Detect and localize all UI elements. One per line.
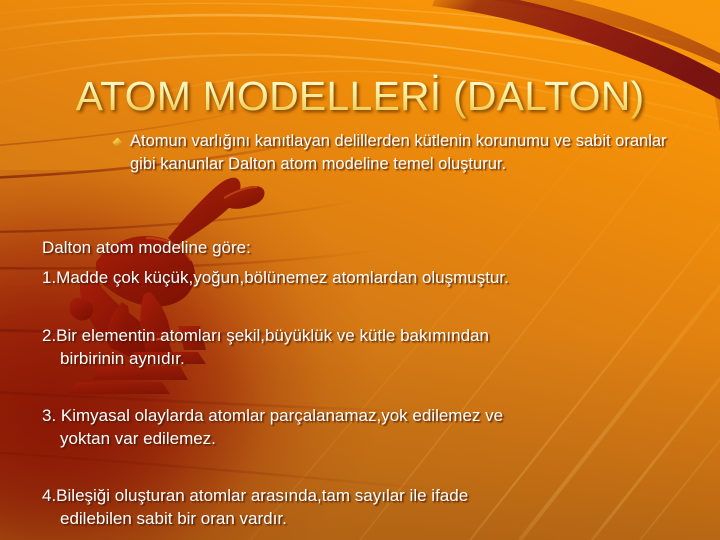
paragraph-item-3-line-1: 3. Kimyasal olaylarda atomlar parçalanam… xyxy=(42,406,503,425)
list-item: Atomun varlığını kanıtlayan delillerden … xyxy=(112,130,690,175)
paragraph-item-1-line-1: 1.Madde çok küçük,yoğun,bölünemez atomla… xyxy=(42,268,509,287)
paragraph-item-2-line-1: 2.Bir elementin atomları şekil,büyüklük … xyxy=(42,326,489,345)
paragraph-item-4-line-1: 4.Bileşiği oluşturan atomlar arasında,ta… xyxy=(42,486,468,505)
paragraph-item-1: 1.Madde çok küçük,yoğun,bölünemez atomla… xyxy=(42,266,702,289)
list-item-label: Atomun varlığını kanıtlayan delillerden … xyxy=(130,130,690,175)
slide: ATOM MODELLERİ (DALTON) xyxy=(0,0,720,540)
bullet-list: Atomun varlığını kanıtlayan delillerden … xyxy=(112,130,690,175)
paragraph-item-3-line-2: yoktan var edilemez. xyxy=(42,427,702,450)
paragraph-item-4: 4.Bileşiği oluşturan atomlar arasında,ta… xyxy=(42,484,702,530)
paragraph-item-3: 3. Kimyasal olaylarda atomlar parçalanam… xyxy=(42,404,702,450)
slide-content: Atomun varlığını kanıtlayan delillerden … xyxy=(0,0,720,540)
diamond-bullet-icon xyxy=(112,137,130,148)
paragraph-intro: Dalton atom modeline göre: xyxy=(42,236,702,259)
paragraph-item-2-line-2: birbirinin aynıdır. xyxy=(42,347,702,370)
paragraph-item-4-line-2: edilebilen sabit bir oran vardır. xyxy=(42,507,702,530)
paragraph-item-2: 2.Bir elementin atomları şekil,büyüklük … xyxy=(42,324,702,370)
